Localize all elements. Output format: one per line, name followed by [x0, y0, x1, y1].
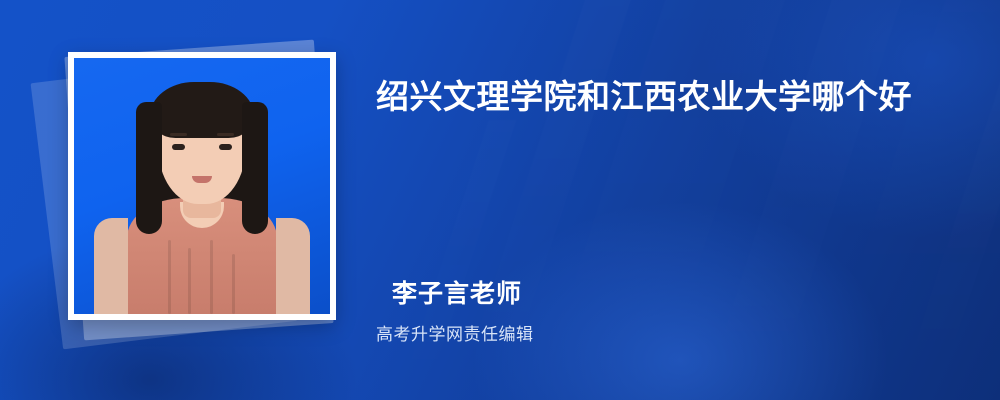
portrait-eyebrow-right	[217, 133, 234, 136]
portrait-hair-right	[242, 102, 268, 234]
photo-frame	[68, 52, 336, 320]
author-role: 高考升学网责任编辑	[376, 320, 534, 345]
portrait-eyebrow-left	[170, 133, 187, 136]
portrait-hair-left	[136, 102, 162, 234]
streak-5	[372, 120, 517, 400]
photo-card-stack	[44, 22, 364, 362]
streak-2	[509, 0, 811, 400]
article-cover-banner: 绍兴文理学院和江西农业大学哪个好 李子言老师 高考升学网责任编辑	[0, 0, 1000, 400]
headline-block: 绍兴文理学院和江西农业大学哪个好	[376, 72, 966, 122]
portrait-dress-fold	[188, 248, 191, 314]
portrait-eye-right	[219, 144, 232, 150]
streak-3	[676, 0, 915, 400]
portrait-photo	[74, 58, 330, 314]
portrait-shoulder-right	[276, 218, 310, 314]
page-title: 绍兴文理学院和江西农业大学哪个好	[376, 72, 966, 122]
author-name: 李子言老师	[392, 274, 522, 310]
portrait-fringe	[150, 82, 254, 138]
streak-4	[786, 0, 1000, 400]
streak-6	[884, 0, 1000, 400]
portrait-dress-fold	[210, 240, 213, 314]
portrait-shoulder-left	[94, 218, 128, 314]
portrait-dress-fold	[168, 240, 171, 314]
portrait-eye-left	[172, 144, 185, 150]
blue-glow-lower	[470, 200, 890, 400]
portrait-dress-fold	[232, 254, 235, 314]
